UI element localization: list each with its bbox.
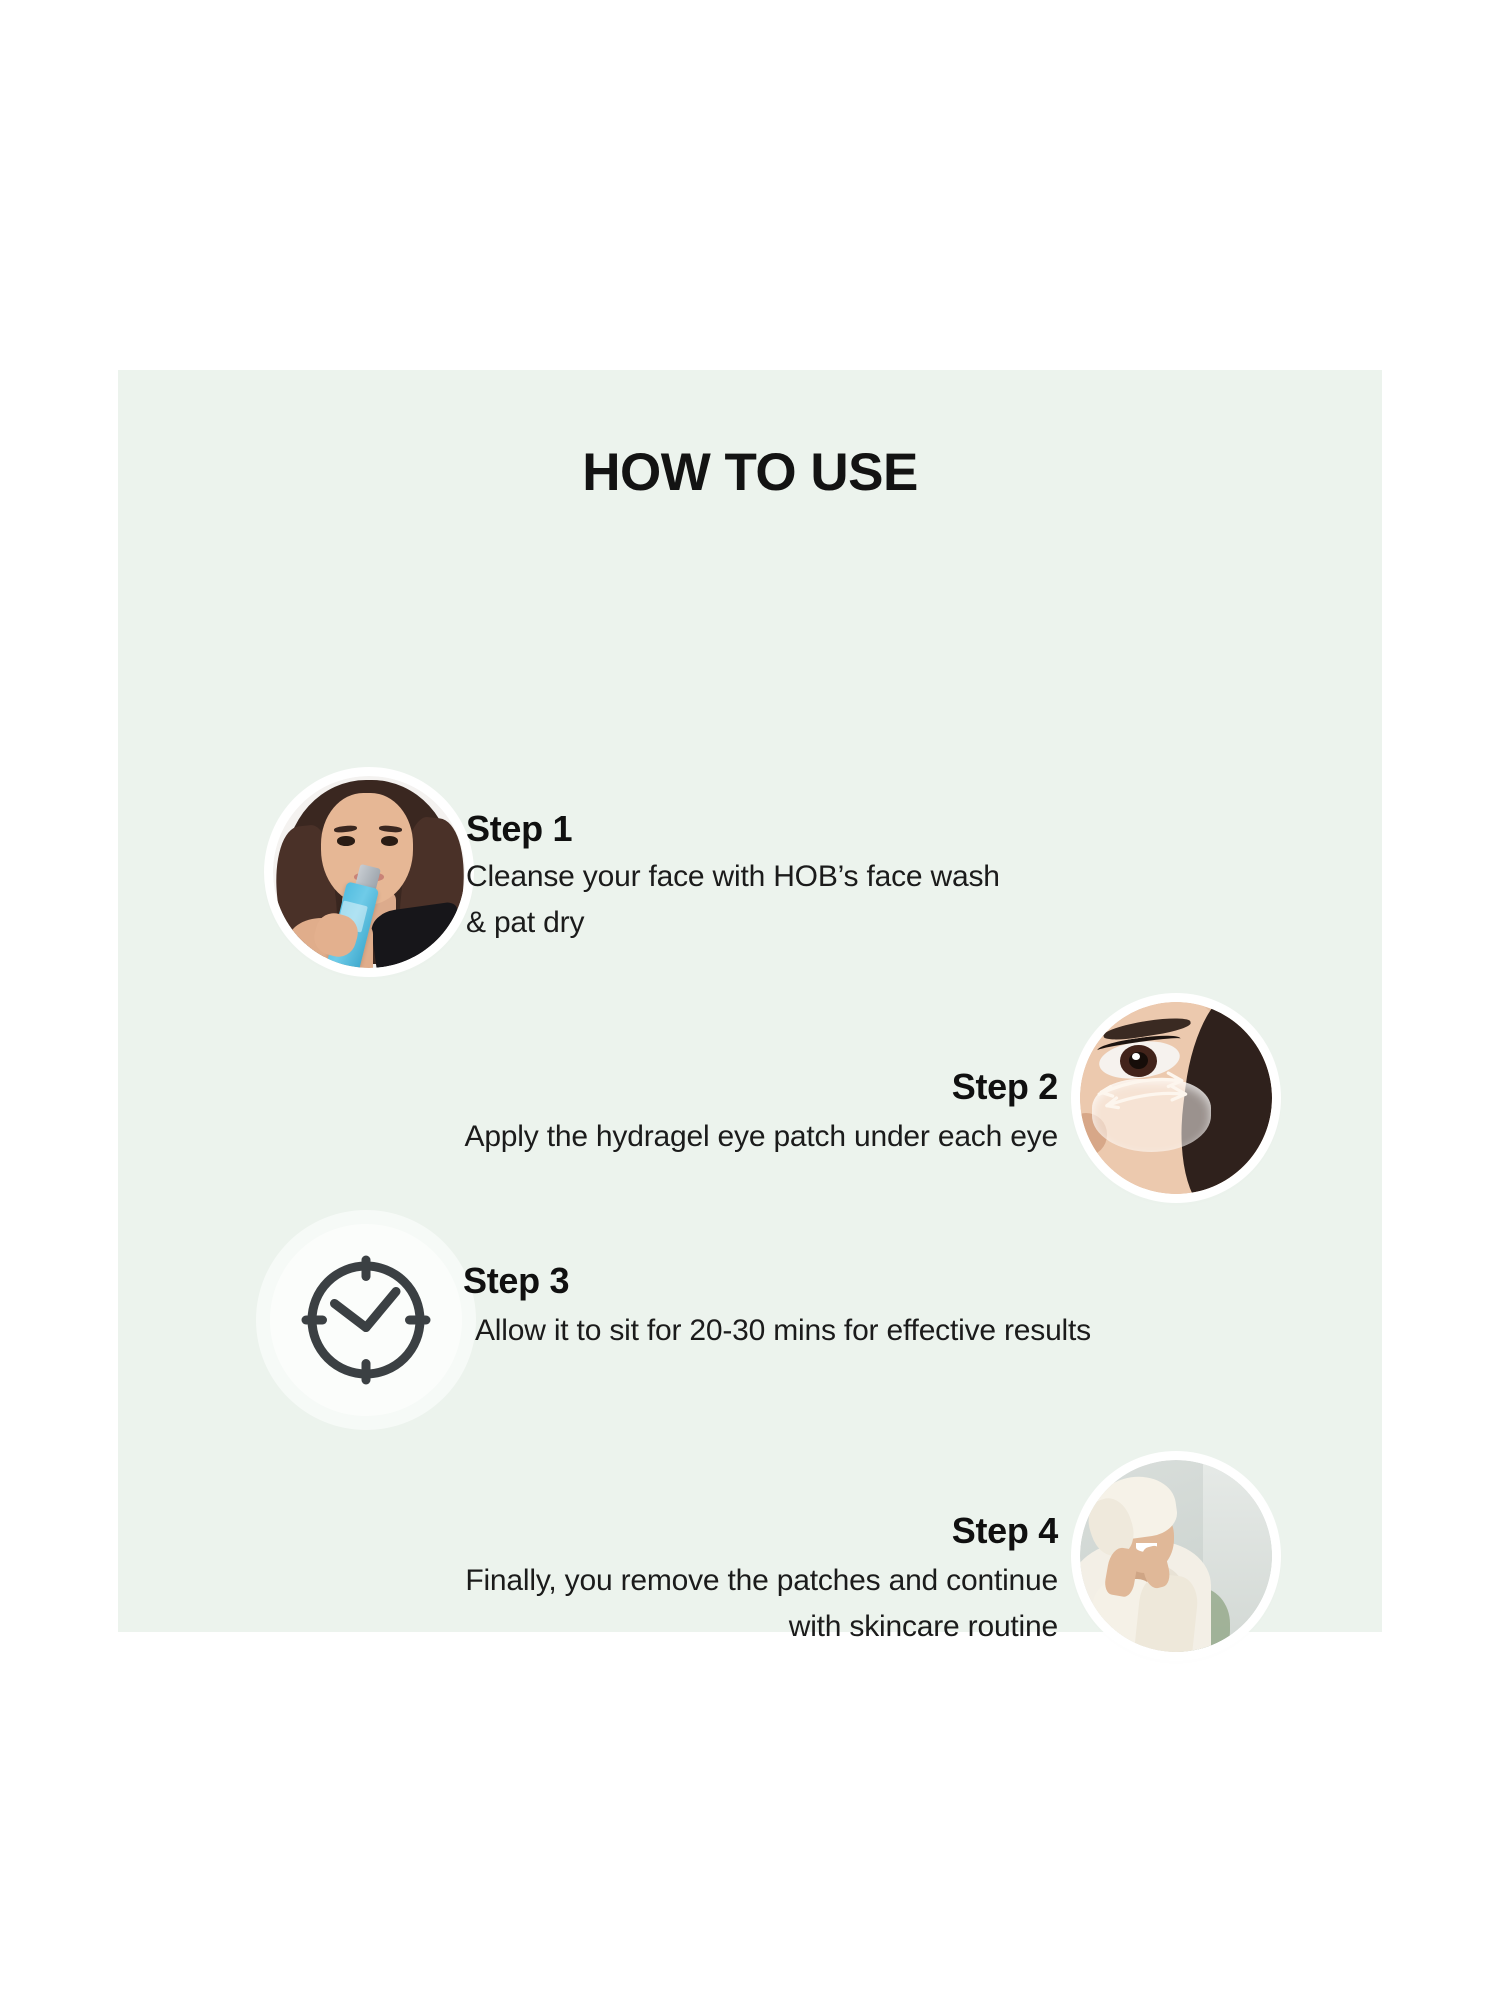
step-row-3: Step 3 Allow it to sit for 20-30 mins fo…: [118, 1224, 1382, 1464]
page-title: HOW TO USE: [118, 442, 1382, 503]
step-2-text: Apply the hydragel eye patch under each …: [218, 1114, 1058, 1160]
how-to-use-panel: HOW TO USE: [118, 370, 1382, 1632]
step-2-copy: Step 2 Apply the hydragel eye patch unde…: [218, 1066, 1058, 1160]
step-row-4: Step 4 Finally, you remove the patches a…: [118, 1460, 1382, 1700]
step-4-copy: Step 4 Finally, you remove the patches a…: [218, 1510, 1058, 1650]
step-4-label: Step 4: [218, 1510, 1058, 1552]
step-row-2: Step 2 Apply the hydragel eye patch unde…: [118, 1002, 1382, 1242]
clock-icon: [291, 1245, 441, 1395]
application-direction-arrows-icon: [1080, 1002, 1272, 1194]
step-2-media: [1080, 1002, 1272, 1194]
photo-woman-in-towel-turban: [1080, 1460, 1272, 1652]
step-3-media: [270, 1224, 462, 1416]
clock-icon-disc: [270, 1224, 462, 1416]
step-3-label: Step 3: [463, 1260, 1091, 1302]
photo-woman-holding-face-wash-bottle: [273, 776, 465, 968]
step-1-label: Step 1: [466, 808, 1000, 850]
step-2-label: Step 2: [218, 1066, 1058, 1108]
photo-eye-with-hydrogel-patch: [1080, 1002, 1272, 1194]
step-3-text: Allow it to sit for 20-30 mins for effec…: [475, 1308, 1091, 1354]
step-3-copy: Step 3 Allow it to sit for 20-30 mins fo…: [463, 1260, 1091, 1354]
step-row-1: Step 1 Cleanse your face with HOB’s face…: [118, 776, 1382, 1016]
step-1-copy: Step 1 Cleanse your face with HOB’s face…: [466, 808, 1000, 946]
step-1-text: Cleanse your face with HOB’s face wash &…: [466, 854, 1000, 945]
step-4-media: [1080, 1460, 1272, 1652]
step-1-media: [273, 776, 465, 968]
step-4-text: Finally, you remove the patches and cont…: [218, 1558, 1058, 1649]
